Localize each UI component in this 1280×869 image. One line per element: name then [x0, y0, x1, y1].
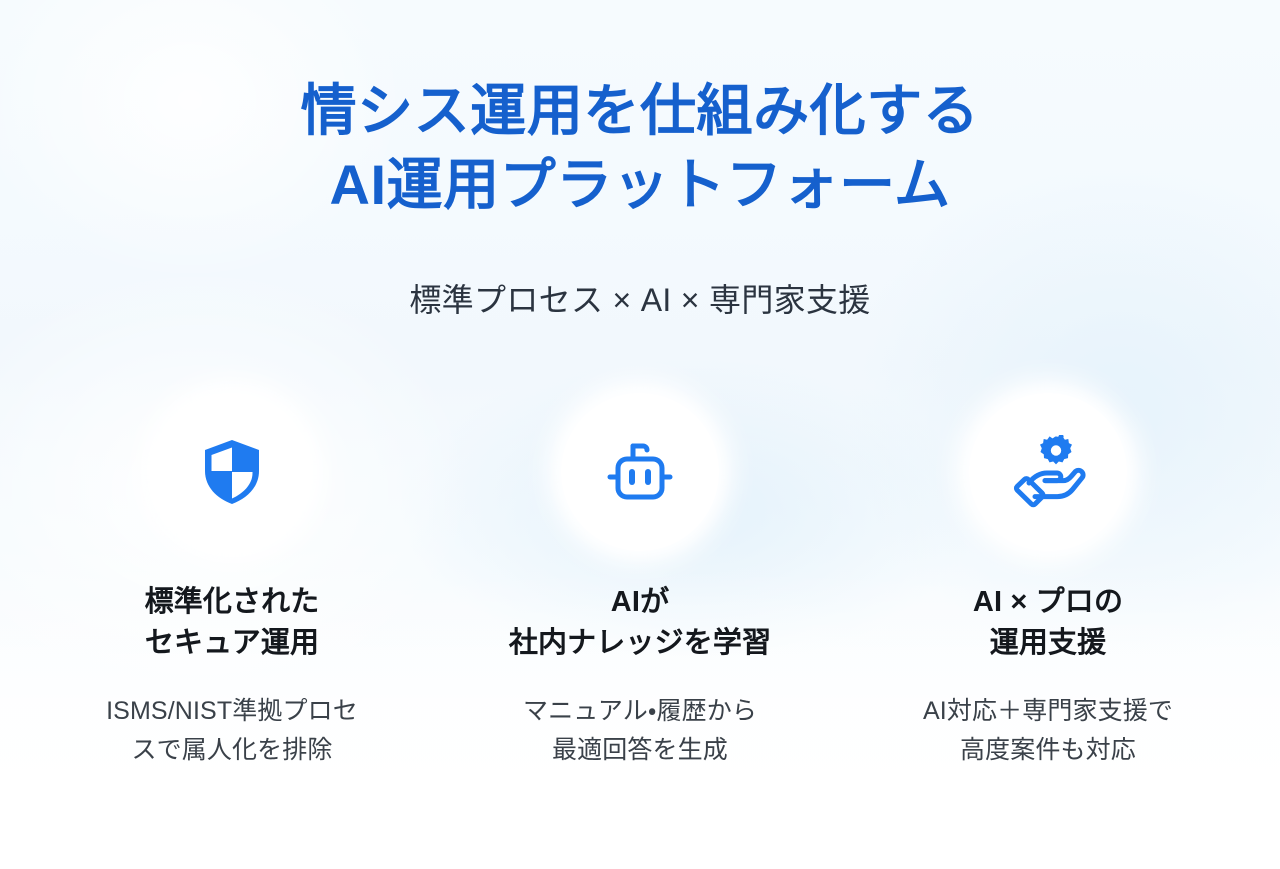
feature-card-ai-knowledge-learning: AIが 社内ナレッジを学習 マニュアル・履歴から 最適回答を生成	[456, 382, 824, 769]
hand-gear-icon	[1009, 435, 1087, 509]
feature-description-line-2: スで属人化を排除	[106, 731, 358, 770]
feature-title: AIが 社内ナレッジを学習	[509, 582, 771, 664]
feature-description: AI対応＋専門家支援で 高度案件も対応	[923, 692, 1173, 769]
icon-container-robot	[550, 382, 730, 562]
page-subtitle: 標準プロセス × AI × 専門家支援	[0, 278, 1280, 323]
feature-title-line-2: 運用支援	[973, 623, 1123, 664]
feature-description-line-1: マニュアル・履歴から	[523, 692, 757, 731]
page-title: 情シス運用を仕組み化する AI運用プラットフォーム	[0, 74, 1280, 222]
shield-icon	[201, 438, 263, 506]
feature-title-line-1: AIが	[509, 582, 771, 623]
feature-title-line-1: 標準化された	[145, 582, 320, 623]
headline-block: 情シス運用を仕組み化する AI運用プラットフォーム	[0, 74, 1280, 222]
icon-container-hand-gear	[958, 382, 1138, 562]
feature-description-line-1: ISMS/NIST準拠プロセ	[106, 692, 358, 731]
icon-disc	[153, 393, 311, 551]
feature-card-standardized-secure-ops: 標準化された セキュア運用 ISMS/NIST準拠プロセ スで属人化を排除	[48, 382, 416, 769]
headline-line-2: AI運用プラットフォーム	[0, 148, 1280, 222]
icon-disc	[969, 393, 1127, 551]
headline-line-1: 情シス運用を仕組み化する	[0, 74, 1280, 148]
feature-description-line-1: AI対応＋専門家支援で	[923, 692, 1173, 731]
feature-description: マニュアル・履歴から 最適回答を生成	[523, 692, 757, 769]
feature-title-line-2: 社内ナレッジを学習	[509, 623, 771, 664]
feature-title-line-2: セキュア運用	[145, 623, 320, 664]
feature-title: 標準化された セキュア運用	[145, 582, 320, 664]
feature-description-line-2: 最適回答を生成	[523, 731, 757, 770]
hero-section: 情シス運用を仕組み化する AI運用プラットフォーム 標準プロセス × AI × …	[0, 0, 1280, 869]
feature-card-ai-pro-support: AI × プロの 運用支援 AI対応＋専門家支援で 高度案件も対応	[864, 382, 1232, 769]
icon-container-shield	[142, 382, 322, 562]
icon-disc	[561, 393, 719, 551]
robot-icon	[603, 439, 677, 505]
feature-description: ISMS/NIST準拠プロセ スで属人化を排除	[106, 692, 358, 769]
feature-description-line-2: 高度案件も対応	[923, 731, 1173, 770]
feature-title: AI × プロの 運用支援	[973, 582, 1123, 664]
feature-title-line-1: AI × プロの	[973, 582, 1123, 623]
feature-list: 標準化された セキュア運用 ISMS/NIST準拠プロセ スで属人化を排除	[48, 382, 1232, 769]
